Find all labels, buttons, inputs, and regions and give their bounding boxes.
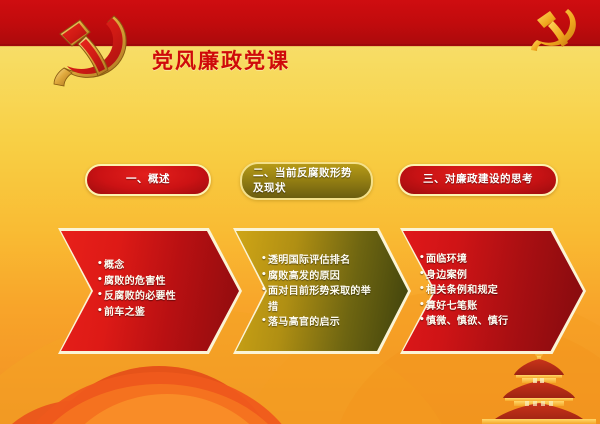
- top-red-banner: [0, 0, 600, 46]
- party-emblem-hammer-sickle-small: [526, 2, 584, 52]
- bullet-item: 面临环境: [419, 252, 508, 268]
- bullet-item: 算好七笔账: [419, 299, 508, 315]
- bullet-item: 腐败的危害性: [97, 274, 176, 290]
- bullet-item: 反腐败的必要性: [97, 289, 176, 305]
- ribbon-fold: [8, 372, 308, 424]
- section-pill-1[interactable]: 一、概述: [85, 164, 211, 196]
- bullet-item: 身边案例: [419, 268, 508, 284]
- chevron-3-bullets: 面临环境 身边案例 相关条例和规定 算好七笔账 慎微、慎欲、慎行: [419, 252, 508, 330]
- ribbon-fold: [20, 384, 300, 424]
- bullet-item: 腐败高发的原因: [261, 269, 376, 285]
- section-pill-3[interactable]: 三、对廉政建设的思考: [398, 164, 558, 196]
- bullet-item: 前车之鉴: [97, 305, 176, 321]
- bullet-item: 面对目前形势采取的举措: [261, 284, 376, 315]
- bullet-item: 透明国际评估排名: [261, 253, 376, 269]
- chevron-2-bullets: 透明国际评估排名 腐败高发的原因 面对目前形势采取的举措 落马高官的启示: [261, 253, 376, 331]
- slide-background: [0, 0, 600, 424]
- ribbon-fold: [52, 394, 282, 424]
- ribbon-fold: [0, 400, 180, 424]
- bullet-item: 概念: [97, 258, 176, 274]
- bullet-item: 落马高官的启示: [261, 315, 376, 331]
- ribbon-fold: [34, 366, 284, 424]
- section-pill-2[interactable]: 二、当前反腐败形势及现状: [240, 162, 373, 200]
- page-title: 党风廉政党课: [152, 49, 290, 74]
- chevron-1-bullets: 概念 腐败的危害性 反腐败的必要性 前车之鉴: [97, 258, 176, 320]
- bullet-item: 相关条例和规定: [419, 283, 508, 299]
- temple-of-heaven-illustration: [480, 348, 598, 424]
- top-banner-shadow: [0, 44, 600, 47]
- bullet-item: 慎微、慎欲、慎行: [419, 314, 508, 330]
- presentation-slide: 党风廉政党课 一、概述 二、当前反腐败形势及现状 三、对廉政建设的思考 概念 腐…: [0, 0, 600, 424]
- party-emblem-hammer-sickle-large: [38, 2, 146, 94]
- red-ribbon-illustration: [0, 350, 330, 424]
